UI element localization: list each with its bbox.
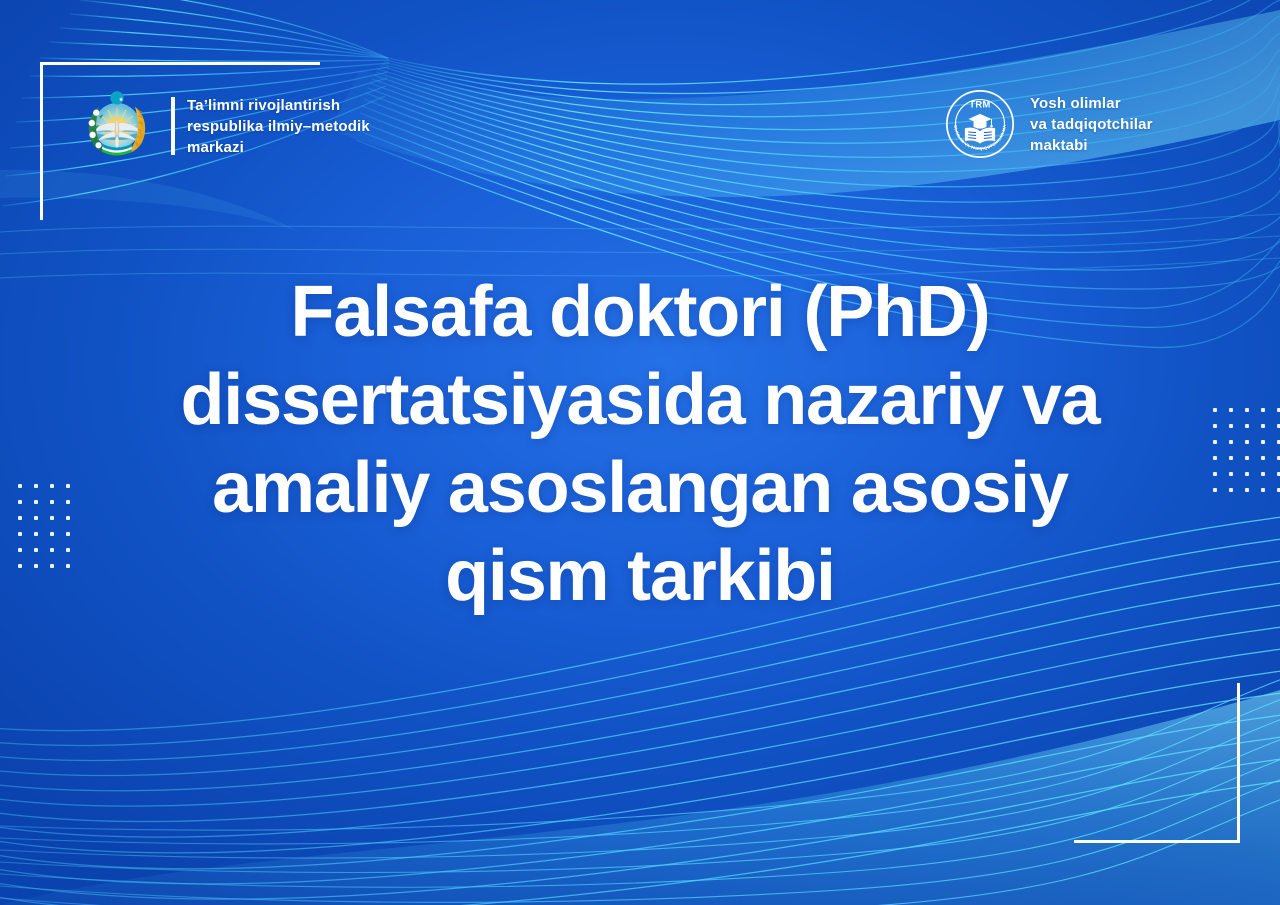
bracket-line-horizontal [1074, 840, 1240, 843]
header-left-title: Ta’limni rivojlantirish respublika ilmiy… [187, 95, 370, 158]
svg-text:TRM: TRM [969, 99, 991, 109]
bracket-line-vertical [40, 62, 43, 220]
header-right-organization: TRM YOSH [944, 88, 1153, 160]
presentation-slide: Ta’limni rivojlantirish respublika ilmiy… [0, 0, 1280, 905]
page-title-line-2: dissertatsiyasida nazariy va [60, 356, 1220, 444]
header-divider-left [171, 97, 175, 155]
uzbekistan-state-emblem-icon [80, 88, 154, 164]
light-sheet-upper-left [0, 170, 300, 232]
bracket-line-horizontal [40, 62, 320, 65]
corner-bracket-bottom-right [1074, 683, 1240, 843]
header-left-organization: Ta’limni rivojlantirish respublika ilmiy… [80, 88, 370, 164]
header-right-title: Yosh olimlar va tadqiqotchilar maktabi [1030, 93, 1153, 156]
page-title-line-1: Falsafa doktori (PhD) [60, 268, 1220, 356]
light-sheet-bottom [0, 690, 1280, 905]
bracket-line-vertical [1237, 683, 1240, 843]
page-title: Falsafa doktori (PhD)dissertatsiyasida n… [0, 268, 1280, 620]
page-title-line-3: amaliy asoslangan asosiy [60, 444, 1220, 532]
trm-school-badge-icon: TRM YOSH [944, 88, 1016, 160]
page-title-line-4: qism tarkibi [60, 532, 1220, 620]
wave-group-bottom-right [0, 676, 1280, 905]
